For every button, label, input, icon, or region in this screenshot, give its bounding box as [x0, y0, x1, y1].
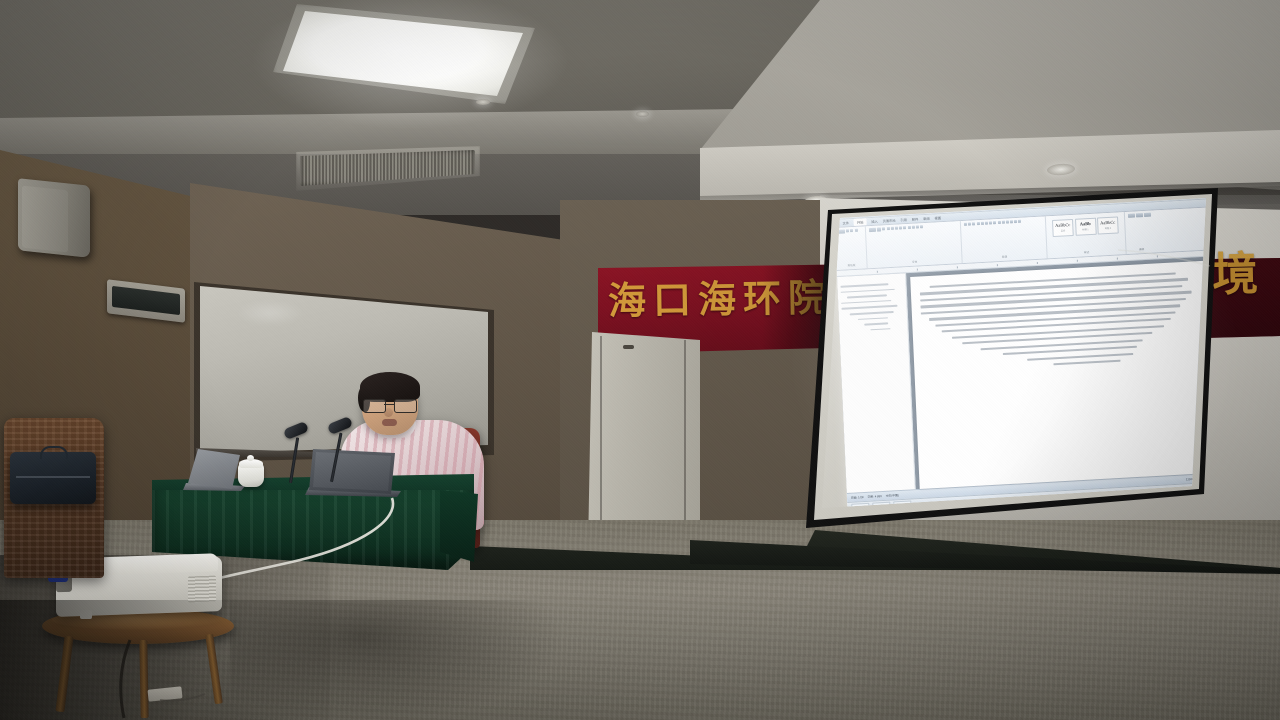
wall-speaker-grille — [22, 186, 68, 253]
style-heading-2[interactable]: AaBbCc 标题 2 — [1097, 216, 1119, 234]
style-preview: AaBb — [1080, 222, 1091, 227]
glasses-bridge — [384, 404, 394, 405]
bullets-icon[interactable] — [964, 223, 967, 226]
style-normal[interactable]: AaBbCc 正文 — [1052, 219, 1074, 237]
shrink-font-icon[interactable] — [886, 227, 889, 230]
nav-item[interactable] — [840, 283, 888, 287]
multilevel-list-icon[interactable] — [972, 222, 975, 225]
downlight-icon — [476, 99, 490, 105]
font-size-box[interactable] — [877, 227, 881, 231]
text-highlight-icon[interactable] — [916, 225, 919, 228]
shading-icon[interactable] — [1014, 220, 1017, 223]
find-icon[interactable] — [1128, 214, 1135, 218]
projection-screen-surface: 文档1 - Microsoft Word 文件 开始 插入 页面布局 引用 邮件… — [820, 196, 1206, 508]
font-name-box[interactable] — [869, 228, 876, 232]
tab-references[interactable]: 引用 — [900, 217, 907, 222]
nav-item[interactable] — [864, 322, 888, 325]
superscript-icon[interactable] — [912, 226, 915, 229]
style-preview: AaBbCc — [1055, 223, 1070, 228]
nav-item[interactable] — [847, 294, 887, 298]
style-name: 正文 — [1061, 229, 1066, 233]
document-page[interactable] — [910, 261, 1206, 489]
italic-icon[interactable] — [895, 227, 898, 230]
event-banner-text-right: 境 — [1211, 238, 1258, 305]
photo-scene: 海口海环院环 境 文档1 - Microsoft Word 文件 开始 插入 页… — [0, 0, 1280, 720]
show-marks-icon[interactable] — [989, 221, 992, 224]
tab-mailings[interactable]: 邮件 — [912, 216, 919, 221]
align-center-icon[interactable] — [997, 221, 1000, 224]
strikethrough-icon[interactable] — [903, 226, 906, 229]
eyeglasses-icon — [363, 399, 417, 411]
stool-leg — [139, 640, 148, 718]
projector-vent-icon — [188, 576, 216, 603]
projector-foot — [80, 610, 92, 619]
ribbon-group-paragraph[interactable]: 段落 — [961, 216, 1048, 263]
status-page: 页面: 1/28 — [851, 495, 864, 500]
nav-item[interactable] — [858, 317, 888, 320]
partition-seam — [600, 336, 602, 544]
font-icons — [869, 223, 957, 232]
nav-item[interactable] — [841, 305, 897, 310]
paragraph-icons — [964, 219, 1042, 226]
subscript-icon[interactable] — [907, 226, 910, 229]
align-right-icon[interactable] — [1002, 221, 1005, 224]
nav-item[interactable] — [850, 311, 894, 315]
laptop-screen-back — [313, 452, 391, 491]
teacup-knob — [247, 455, 254, 461]
tab-page-layout[interactable]: 页面布局 — [883, 218, 896, 224]
ribbon-group-clipboard[interactable]: 剪贴板 — [835, 226, 868, 270]
style-heading-1[interactable]: AaBb 标题 1 — [1074, 218, 1096, 236]
tab-file[interactable]: 文件 — [842, 220, 849, 225]
line-spacing-icon[interactable] — [1010, 220, 1013, 223]
downlight-icon — [636, 111, 649, 117]
bold-icon[interactable] — [891, 227, 894, 230]
ribbon-group-font[interactable]: 字体 — [866, 221, 963, 268]
presenter-mouth — [382, 419, 397, 426]
zoom-level: 115% — [1186, 477, 1193, 481]
ribbon-group-label: 编辑 — [1129, 247, 1153, 252]
partition-seam — [684, 340, 686, 544]
bag-handle — [40, 446, 68, 459]
increase-indent-icon[interactable] — [981, 222, 984, 225]
navigation-pane[interactable] — [837, 273, 916, 493]
justify-icon[interactable] — [1006, 220, 1009, 223]
ribbon-group-editing[interactable]: 编辑 — [1125, 210, 1157, 254]
style-name: 标题 1 — [1082, 227, 1088, 231]
align-left-icon[interactable] — [993, 221, 996, 224]
status-words: 字数: 4 890 — [867, 494, 881, 499]
format-painter-icon[interactable] — [854, 229, 857, 232]
style-name: 标题 2 — [1105, 226, 1111, 230]
nav-item[interactable] — [870, 328, 890, 331]
style-gallery[interactable]: AaBbCc 正文 AaBb 标题 1 AaBbCc 标题 2 — [1049, 214, 1122, 239]
word-document-area[interactable] — [837, 256, 1206, 493]
status-language: 中文(中国) — [886, 493, 899, 498]
decrease-indent-icon[interactable] — [976, 222, 979, 225]
ribbon-group-styles[interactable]: AaBbCc 正文 AaBb 标题 1 AaBbCc 标题 2 样式 — [1046, 212, 1127, 258]
bag-zipper — [16, 476, 90, 478]
numbering-icon[interactable] — [968, 223, 971, 226]
select-icon[interactable] — [1144, 213, 1151, 217]
partition-knob[interactable] — [623, 345, 634, 349]
nav-item[interactable] — [841, 288, 895, 293]
replace-icon[interactable] — [1136, 213, 1143, 217]
sort-icon[interactable] — [985, 222, 988, 225]
nav-item[interactable] — [841, 300, 891, 304]
underline-icon[interactable] — [899, 226, 902, 229]
font-color-icon[interactable] — [920, 225, 923, 228]
laptop-bag — [10, 452, 96, 504]
borders-icon[interactable] — [1018, 220, 1021, 223]
grow-font-icon[interactable] — [882, 227, 885, 230]
word-window[interactable]: 文档1 - Microsoft Word 文件 开始 插入 页面布局 引用 邮件… — [834, 196, 1206, 508]
tab-review[interactable]: 审阅 — [923, 216, 930, 221]
clipboard-icons — [838, 229, 862, 234]
tab-insert[interactable]: 插入 — [871, 219, 878, 224]
editing-icons — [1128, 213, 1152, 218]
style-preview: AaBbCc — [1100, 220, 1115, 225]
tab-home[interactable]: 开始 — [854, 218, 867, 226]
cut-icon[interactable] — [846, 229, 849, 232]
tab-view[interactable]: 视图 — [934, 215, 941, 220]
copy-icon[interactable] — [850, 229, 853, 232]
glasses-lens-right — [394, 399, 417, 413]
ribbon-group-label: 剪贴板 — [839, 263, 863, 268]
glasses-lens-left — [363, 399, 386, 413]
